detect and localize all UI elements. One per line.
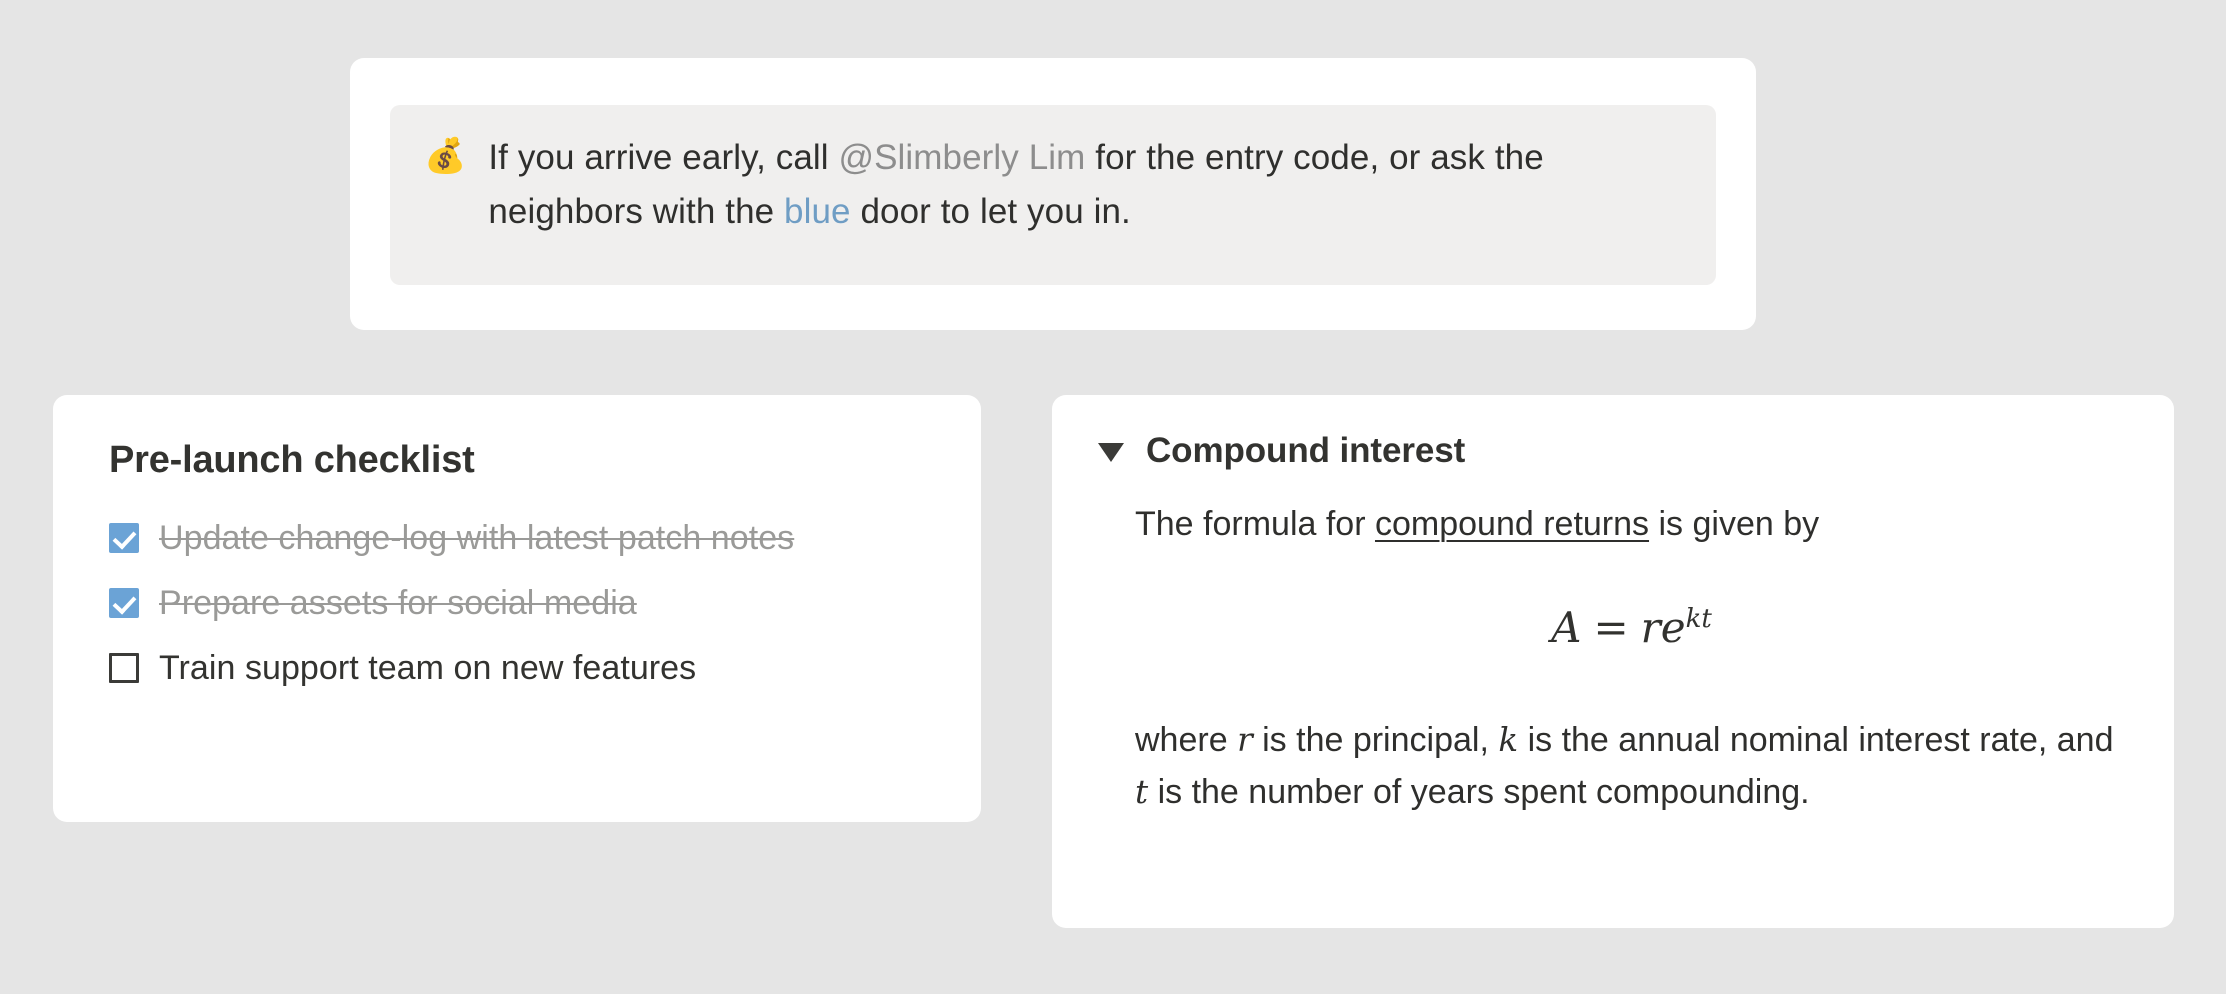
disclosure-header[interactable]: Compound interest xyxy=(1098,431,2128,471)
formula-intro-part-2: is given by xyxy=(1649,505,1819,543)
checkbox-unchecked-icon[interactable] xyxy=(109,653,139,683)
formula-intro-text: The formula for compound returns is give… xyxy=(1135,501,2128,547)
checklist-item[interactable]: Update change-log with latest patch note… xyxy=(109,516,925,560)
math-variable-r: r xyxy=(1237,721,1253,759)
formula-rhs-exponent: kt xyxy=(1686,604,1712,634)
callout-text: If you arrive early, call @Slimberly Lim… xyxy=(488,131,1608,239)
checklist-title: Pre-launch checklist xyxy=(109,439,925,482)
formula-lhs: A xyxy=(1551,603,1581,652)
checklist-item[interactable]: Prepare assets for social media xyxy=(109,581,925,625)
checklist-card: Pre-launch checklist Update change-log w… xyxy=(53,395,981,822)
formula-display: A=rekt xyxy=(1135,603,2128,652)
formula-explanation-text: where r is the principal, k is the annua… xyxy=(1135,714,2128,818)
outro-part-1: where xyxy=(1135,721,1237,759)
page-root: 💰 If you arrive early, call @Slimberly L… xyxy=(0,0,2226,994)
callout-block: 💰 If you arrive early, call @Slimberly L… xyxy=(390,105,1716,285)
formula-rhs-base: re xyxy=(1641,603,1686,652)
checklist-item[interactable]: Train support team on new features xyxy=(109,646,925,690)
checklist-item-label: Update change-log with latest patch note… xyxy=(159,517,794,559)
blue-link[interactable]: blue xyxy=(784,192,851,231)
math-variable-k: k xyxy=(1498,721,1518,759)
outro-part-2: is the principal, xyxy=(1253,721,1499,759)
money-bag-icon: 💰 xyxy=(424,131,466,181)
compound-returns-link[interactable]: compound returns xyxy=(1375,505,1649,543)
callout-text-part-3: door to let you in. xyxy=(851,192,1131,231)
callout-card: 💰 If you arrive early, call @Slimberly L… xyxy=(350,58,1756,330)
disclosure-content: The formula for compound returns is give… xyxy=(1098,501,2128,818)
disclosure-title: Compound interest xyxy=(1146,431,1465,471)
outro-part-4: is the number of years spent compounding… xyxy=(1148,773,1810,811)
checkbox-checked-icon[interactable] xyxy=(109,588,139,618)
formula-intro-part-1: The formula for xyxy=(1135,505,1375,543)
outro-part-3: is the annual nominal interest rate, and xyxy=(1518,721,2113,759)
triangle-down-icon[interactable] xyxy=(1098,443,1124,462)
user-mention[interactable]: @Slimberly Lim xyxy=(838,138,1085,177)
checklist-item-label: Prepare assets for social media xyxy=(159,582,637,624)
formula-operator: = xyxy=(1593,603,1628,652)
checklist-item-label: Train support team on new features xyxy=(159,647,696,689)
math-variable-t: t xyxy=(1135,773,1148,811)
callout-text-part-1: If you arrive early, call xyxy=(488,138,838,177)
checkbox-checked-icon[interactable] xyxy=(109,523,139,553)
compound-interest-card: Compound interest The formula for compou… xyxy=(1052,395,2174,928)
